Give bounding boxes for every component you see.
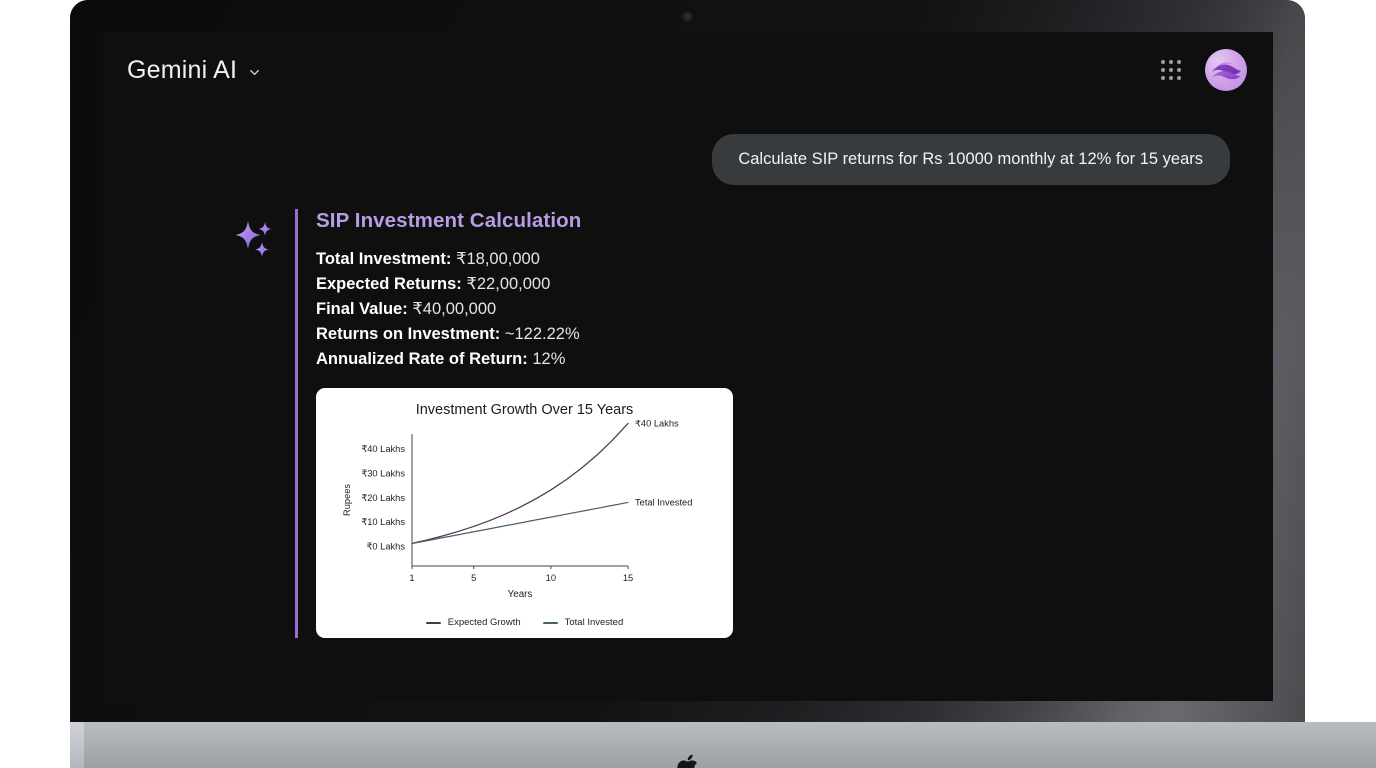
stat-line: Annualized Rate of Return: 12% <box>316 347 1247 372</box>
stat-line: Final Value: ₹40,00,000 <box>316 297 1247 322</box>
stat-value: ₹40,00,000 <box>408 300 497 318</box>
legend-entry: Total Invested <box>543 617 624 628</box>
webcam-icon <box>684 13 691 20</box>
chevron-down-icon[interactable] <box>247 65 262 80</box>
stat-line: Total Investment: ₹18,00,000 <box>316 247 1247 272</box>
stat-label: Final Value: <box>316 300 408 318</box>
header-actions <box>1161 49 1247 91</box>
svg-text:₹40 Lakhs: ₹40 Lakhs <box>635 420 679 429</box>
legend-swatch <box>426 622 441 624</box>
svg-text:₹10 Lakhs: ₹10 Lakhs <box>361 517 405 527</box>
laptop-base-edge <box>70 722 84 768</box>
conversation-panel: Calculate SIP returns for Rs 10000 month… <box>103 108 1273 701</box>
chart-svg: ₹0 Lakhs₹10 Lakhs₹20 Lakhs₹30 Lakhs₹40 L… <box>328 420 721 616</box>
svg-text:10: 10 <box>546 573 556 583</box>
chart-plot-area: ₹0 Lakhs₹10 Lakhs₹20 Lakhs₹30 Lakhs₹40 L… <box>328 420 721 616</box>
app-header: Gemini AI <box>103 32 1273 108</box>
svg-text:₹40 Lakhs: ₹40 Lakhs <box>361 444 405 454</box>
app-title-dropdown[interactable]: Gemini AI <box>127 56 262 85</box>
svg-text:₹0 Lakhs: ₹0 Lakhs <box>367 542 406 552</box>
stat-line: Expected Returns: ₹22,00,000 <box>316 272 1247 297</box>
assistant-message-row: SIP Investment Calculation Total Investm… <box>127 185 1247 638</box>
avatar-wave-icon <box>1205 49 1247 91</box>
svg-text:Tetal Invested: Tetal Invested <box>635 498 692 508</box>
stat-label: Total Investment: <box>316 250 451 268</box>
investment-growth-chart-card: Investment Growth Over 15 Years ₹0 Lakhs… <box>316 388 733 638</box>
response-title: SIP Investment Calculation <box>316 209 1247 233</box>
chart-legend: Expected GrowthTotal Invested <box>328 617 721 628</box>
stat-line: Returns on Investment: ~122.22% <box>316 322 1247 347</box>
svg-text:₹20 Lakhs: ₹20 Lakhs <box>361 493 405 503</box>
stat-value: 12% <box>528 350 566 368</box>
apps-grid-icon[interactable] <box>1161 60 1181 80</box>
user-message-row: Calculate SIP returns for Rs 10000 month… <box>127 108 1247 185</box>
stat-label: Returns on Investment: <box>316 325 500 343</box>
sparkle-icon <box>233 215 279 261</box>
svg-text:Years: Years <box>508 589 533 600</box>
stat-label: Annualized Rate of Return: <box>316 350 528 368</box>
apple-logo-icon <box>674 752 702 768</box>
stats-list: Total Investment: ₹18,00,000Expected Ret… <box>316 247 1247 372</box>
stat-value: ₹18,00,000 <box>451 250 540 268</box>
svg-text:Rupees: Rupees <box>342 484 352 516</box>
legend-label: Total Invested <box>565 617 624 628</box>
assistant-response: SIP Investment Calculation Total Investm… <box>295 209 1247 638</box>
chart-title: Investment Growth Over 15 Years <box>328 402 721 418</box>
legend-swatch <box>543 622 558 624</box>
stat-value: ₹22,00,000 <box>462 275 551 293</box>
avatar[interactable] <box>1205 49 1247 91</box>
user-message-bubble: Calculate SIP returns for Rs 10000 month… <box>712 134 1230 185</box>
laptop-base <box>70 722 1376 768</box>
svg-text:5: 5 <box>471 573 476 583</box>
svg-text:1: 1 <box>409 573 414 583</box>
page-title: Gemini AI <box>127 56 237 85</box>
legend-entry: Expected Growth <box>426 617 521 628</box>
stat-value: ~122.22% <box>500 325 579 343</box>
stat-label: Expected Returns: <box>316 275 462 293</box>
screenshot-stage: Gemini AI <box>0 0 1376 768</box>
svg-text:₹30 Lakhs: ₹30 Lakhs <box>361 469 405 479</box>
laptop-screen: Gemini AI <box>103 32 1273 701</box>
legend-label: Expected Growth <box>448 617 521 628</box>
svg-text:15: 15 <box>623 573 633 583</box>
